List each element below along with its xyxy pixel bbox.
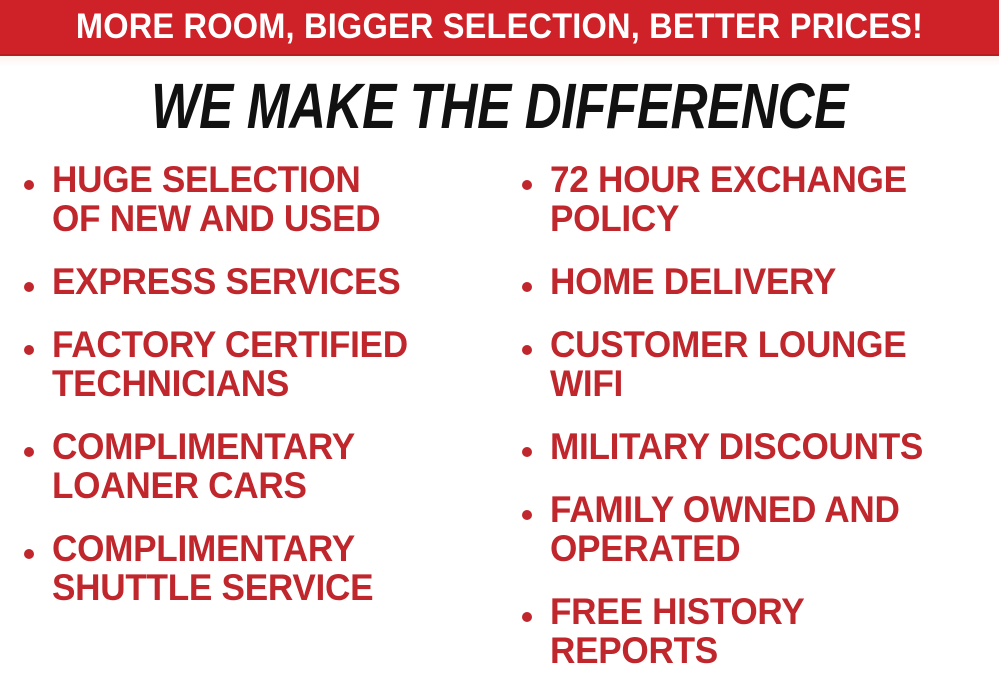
list-item: FREE HISTORY REPORTS xyxy=(516,592,999,670)
bullet-dot-icon xyxy=(24,345,34,355)
benefits-column-left: HUGE SELECTION OF NEW AND USED EXPRESS S… xyxy=(18,160,504,631)
list-item: CUSTOMER LOUNGE WIFI xyxy=(516,325,999,403)
list-item: HOME DELIVERY xyxy=(516,262,999,301)
list-item-label: HUGE SELECTION OF NEW AND USED xyxy=(52,160,481,238)
list-item-label: CUSTOMER LOUNGE WIFI xyxy=(550,325,977,403)
bullet-dot-icon xyxy=(24,180,34,190)
bullet-dot-icon xyxy=(522,612,532,622)
top-promo-bar: MORE ROOM, BIGGER SELECTION, BETTER PRIC… xyxy=(0,0,999,56)
list-item-label: HOME DELIVERY xyxy=(550,262,977,301)
list-item: FACTORY CERTIFIED TECHNICIANS xyxy=(18,325,504,403)
benefits-column-right: 72 HOUR EXCHANGE POLICY HOME DELIVERY CU… xyxy=(516,160,999,692)
bullet-dot-icon xyxy=(522,282,532,292)
list-item: FAMILY OWNED AND OPERATED xyxy=(516,490,999,568)
list-item-label: FACTORY CERTIFIED TECHNICIANS xyxy=(52,325,481,403)
bullet-dot-icon xyxy=(522,510,532,520)
promotional-banner: MORE ROOM, BIGGER SELECTION, BETTER PRIC… xyxy=(0,0,999,692)
list-item-label: COMPLIMENTARY SHUTTLE SERVICE xyxy=(52,529,481,607)
list-item: MILITARY DISCOUNTS xyxy=(516,427,999,466)
list-item-label: EXPRESS SERVICES xyxy=(52,262,481,301)
list-item-label: MILITARY DISCOUNTS xyxy=(550,427,977,466)
list-item: EXPRESS SERVICES xyxy=(18,262,504,301)
list-item-label: 72 HOUR EXCHANGE POLICY xyxy=(550,160,977,238)
bullet-dot-icon xyxy=(522,447,532,457)
list-item-label: FAMILY OWNED AND OPERATED xyxy=(550,490,977,568)
list-item-label: COMPLIMENTARY LOANER CARS xyxy=(52,427,481,505)
list-item: HUGE SELECTION OF NEW AND USED xyxy=(18,160,504,238)
page-title: WE MAKE THE DIFFERENCE xyxy=(100,74,899,138)
list-item-label: FREE HISTORY REPORTS xyxy=(550,592,977,670)
bullet-dot-icon xyxy=(522,345,532,355)
bullet-dot-icon xyxy=(24,549,34,559)
list-item: COMPLIMENTARY SHUTTLE SERVICE xyxy=(18,529,504,607)
bullet-dot-icon xyxy=(24,282,34,292)
bullet-dot-icon xyxy=(522,180,532,190)
top-promo-bar-text: MORE ROOM, BIGGER SELECTION, BETTER PRIC… xyxy=(35,0,964,54)
list-item: COMPLIMENTARY LOANER CARS xyxy=(18,427,504,505)
banner-divider xyxy=(0,56,999,66)
bullet-dot-icon xyxy=(24,447,34,457)
list-item: 72 HOUR EXCHANGE POLICY xyxy=(516,160,999,238)
